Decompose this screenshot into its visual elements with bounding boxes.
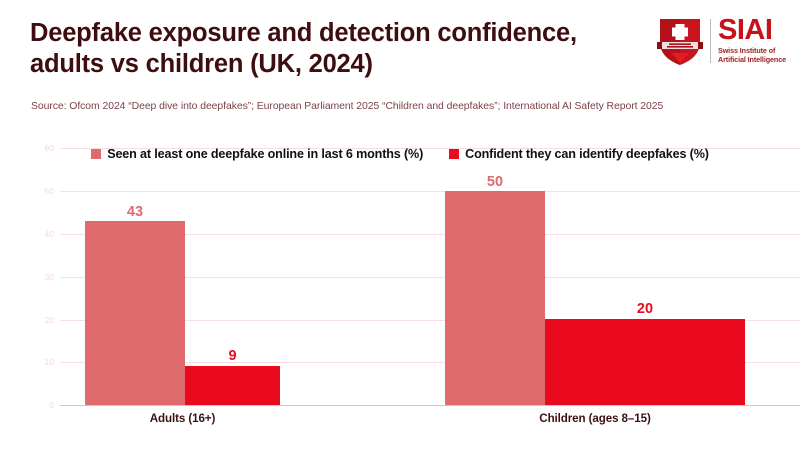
bar-group-container: 43 9 50 20: [0, 140, 800, 410]
logo-siai-text: SIAI: [718, 17, 786, 45]
bar-value-children-confident: 20: [545, 301, 745, 317]
legend-swatch-icon: [91, 149, 101, 159]
siai-logo: SIAI Swiss Institute of Artificial Intel…: [657, 14, 787, 68]
chart-header: Deepfake exposure and detection confiden…: [0, 0, 800, 136]
logo-tagline-line2: Artificial Intelligence: [718, 56, 786, 65]
x-axis-labels: Adults (16+) Children (ages 8–15): [0, 412, 800, 436]
legend-item-series2[interactable]: Confident they can identify deepfakes (%…: [449, 147, 709, 161]
legend-item-series1[interactable]: Seen at least one deepfake online in las…: [91, 147, 423, 161]
swiss-shield-icon: [657, 16, 703, 66]
legend-swatch-icon: [449, 149, 459, 159]
bar-children-seen[interactable]: [445, 191, 545, 405]
xlabel-adults: Adults (16+): [85, 412, 280, 425]
xlabel-children: Children (ages 8–15): [445, 412, 745, 425]
bar-children-confident[interactable]: [545, 319, 745, 405]
logo-divider: [710, 19, 712, 63]
page-title: Deepfake exposure and detection confiden…: [30, 18, 650, 80]
legend-label-series2: Confident they can identify deepfakes (%…: [465, 147, 709, 161]
chart-page: Deepfake exposure and detection confiden…: [0, 0, 800, 450]
bar-adults-seen[interactable]: [85, 221, 185, 405]
bar-value-children-seen: 50: [445, 174, 545, 190]
bar-value-adults-confident: 9: [185, 348, 280, 364]
chart-legend: Seen at least one deepfake online in las…: [0, 144, 800, 164]
source-note: Source: Ofcom 2024 “Deep dive into deepf…: [31, 99, 721, 115]
plot-area: 60 50 40 30 20 10 0 43 9 50 20: [0, 140, 800, 410]
legend-label-series1: Seen at least one deepfake online in las…: [107, 147, 423, 161]
bar-value-adults-seen: 43: [85, 204, 185, 220]
logo-wordmark: SIAI Swiss Institute of Artificial Intel…: [718, 17, 786, 64]
bar-adults-confident[interactable]: [185, 366, 280, 405]
